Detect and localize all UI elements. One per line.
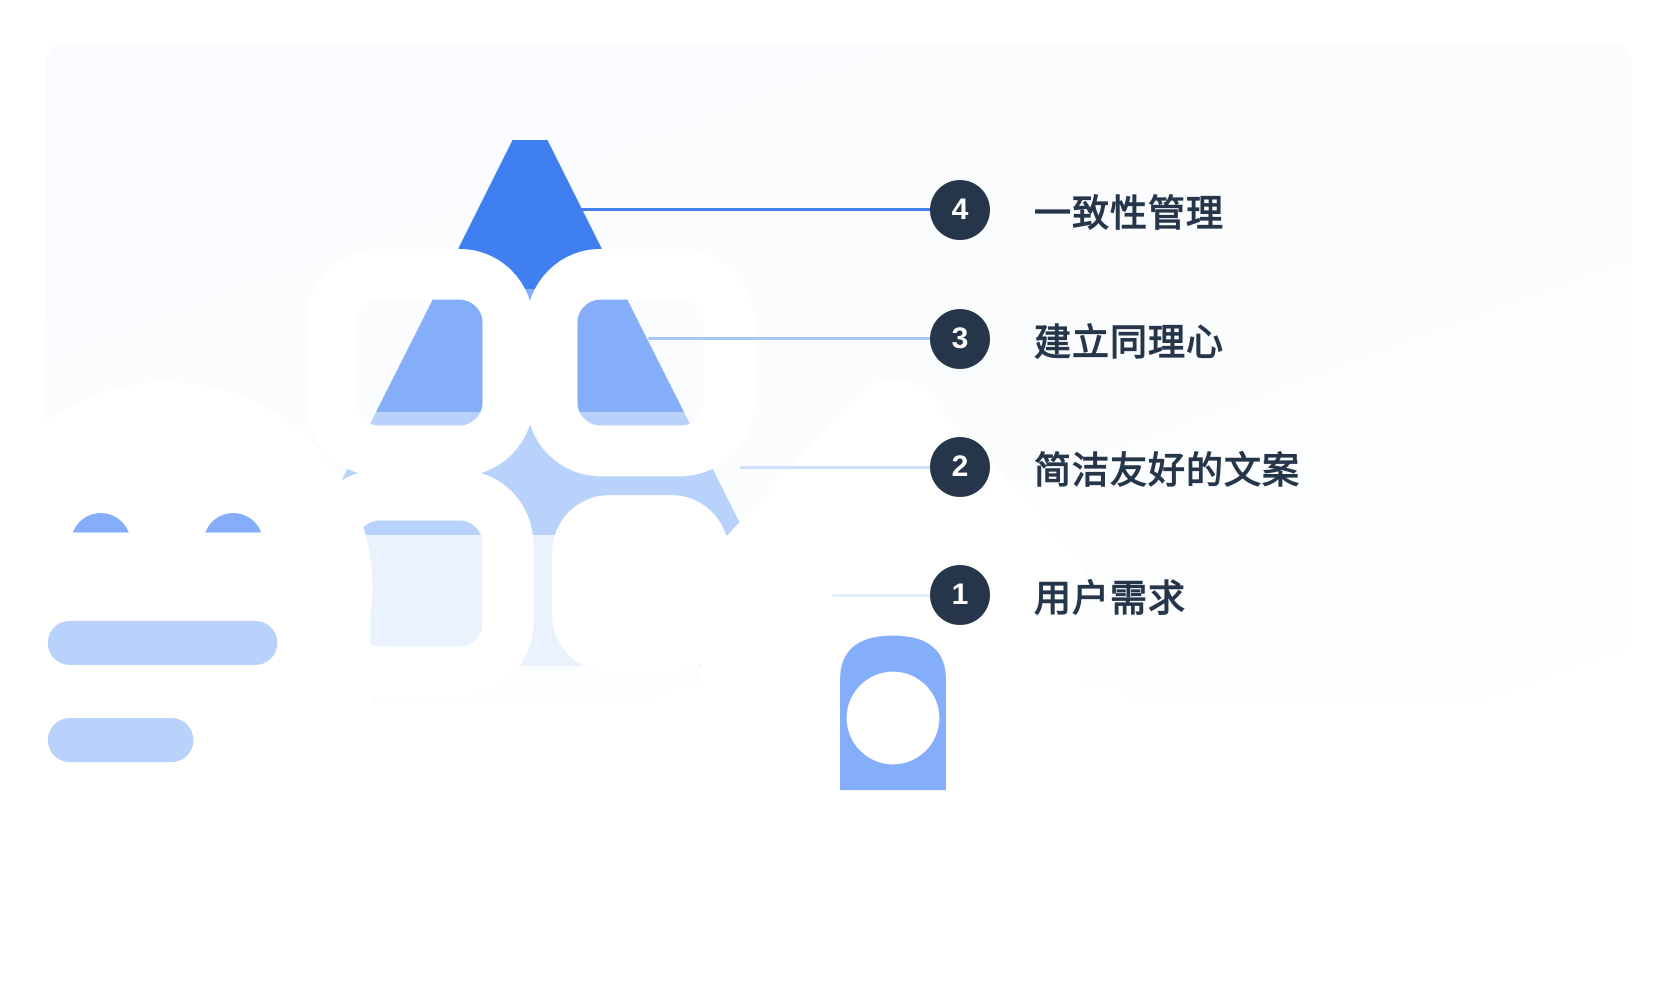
- tier-badge-1: 1: [930, 565, 990, 625]
- pyramid-graphic: [180, 140, 880, 670]
- tier-label-2: 简洁友好的文案: [1034, 440, 1300, 494]
- tier-label-1: 用户需求: [1034, 568, 1186, 622]
- pyramid-tier-2: [314, 412, 746, 535]
- tier-label-3: 建立同理心: [1034, 312, 1224, 366]
- tier-label-4: 一致性管理: [1034, 183, 1224, 237]
- legend-row-tier-4[interactable]: 4 一致性管理: [930, 178, 1224, 242]
- connector-line-tier-4: [560, 208, 932, 211]
- legend-row-tier-1[interactable]: 1 用户需求: [930, 563, 1186, 627]
- pyramid-tier-1: [250, 535, 811, 666]
- legend-row-tier-2[interactable]: 2 简洁友好的文案: [930, 435, 1300, 499]
- pyramid-tier-4: [438, 140, 622, 289]
- connector-line-tier-3: [648, 337, 932, 340]
- pyramid-tier-3: [376, 289, 684, 412]
- connector-line-tier-1: [832, 594, 932, 597]
- tier-badge-2: 2: [930, 437, 990, 497]
- legend-row-tier-3[interactable]: 3 建立同理心: [930, 307, 1224, 371]
- tier-badge-3: 3: [930, 309, 990, 369]
- diagram-canvas: 4 一致性管理 3 建立同理心 2 简洁友好的文案 1 用户需求: [0, 0, 1678, 748]
- tier-badge-4: 4: [930, 180, 990, 240]
- connector-line-tier-2: [740, 466, 932, 469]
